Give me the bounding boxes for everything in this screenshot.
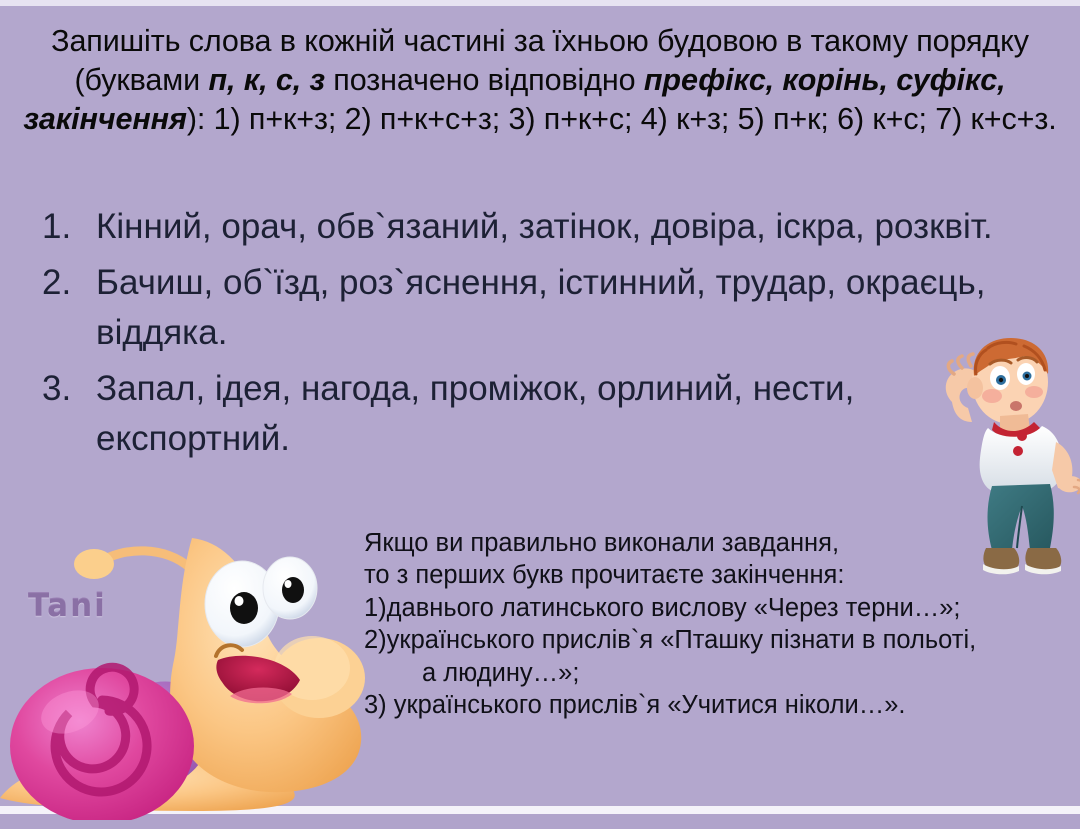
bottom-separator-band <box>0 806 1080 814</box>
list-item-text: Кінний, орач, обв`язаний, затінок, довір… <box>96 202 1054 252</box>
title-part-2: позначено відповідно <box>325 63 644 97</box>
list-item-text: Бачиш, об`їзд, роз`яснення, істинний, тр… <box>96 258 1054 358</box>
page-title: Запишіть слова в кожній частині за їхньо… <box>22 22 1058 139</box>
list-item-number: 1. <box>34 202 96 252</box>
note-line: а людину…»; <box>364 657 1080 689</box>
list-item-text: Запал, ідея, нагода, проміжок, орлиний, … <box>96 364 1054 464</box>
note-line: 3) українського прислів`я «Учитися нікол… <box>364 689 1080 721</box>
note-line: 2)українського прислів`я «Пташку пізнати… <box>364 624 1080 656</box>
title-emphasis-letters: п, к, с, з <box>208 63 324 97</box>
title-part-3: ): 1) п+к+з; 2) п+к+с+з; 3) п+к+с; 4) к+… <box>187 102 1057 136</box>
bottom-accent-strip <box>0 814 1080 829</box>
list-item: 3. Запал, ідея, нагода, проміжок, орлини… <box>34 364 1054 464</box>
exercise-list: 1. Кінний, орач, обв`язаний, затінок, до… <box>34 202 1054 470</box>
hint-note: Якщо ви правильно виконали завдання, то … <box>364 527 1080 721</box>
watermark-tani: Tani <box>28 588 107 624</box>
note-line: 1)давнього латинського вислову «Через те… <box>364 592 1080 624</box>
list-item-number: 2. <box>34 258 96 308</box>
list-item-number: 3. <box>34 364 96 414</box>
list-item: 2. Бачиш, об`їзд, роз`яснення, істинний,… <box>34 258 1054 358</box>
slide-canvas: Запишіть слова в кожній частині за їхньо… <box>0 0 1080 829</box>
note-line: Якщо ви правильно виконали завдання, <box>364 527 1080 559</box>
snail-illustration <box>0 508 386 820</box>
list-item: 1. Кінний, орач, обв`язаний, затінок, до… <box>34 202 1054 252</box>
top-accent-strip <box>0 0 1080 6</box>
note-line: то з перших букв прочитаєте закінчення: <box>364 559 1080 591</box>
